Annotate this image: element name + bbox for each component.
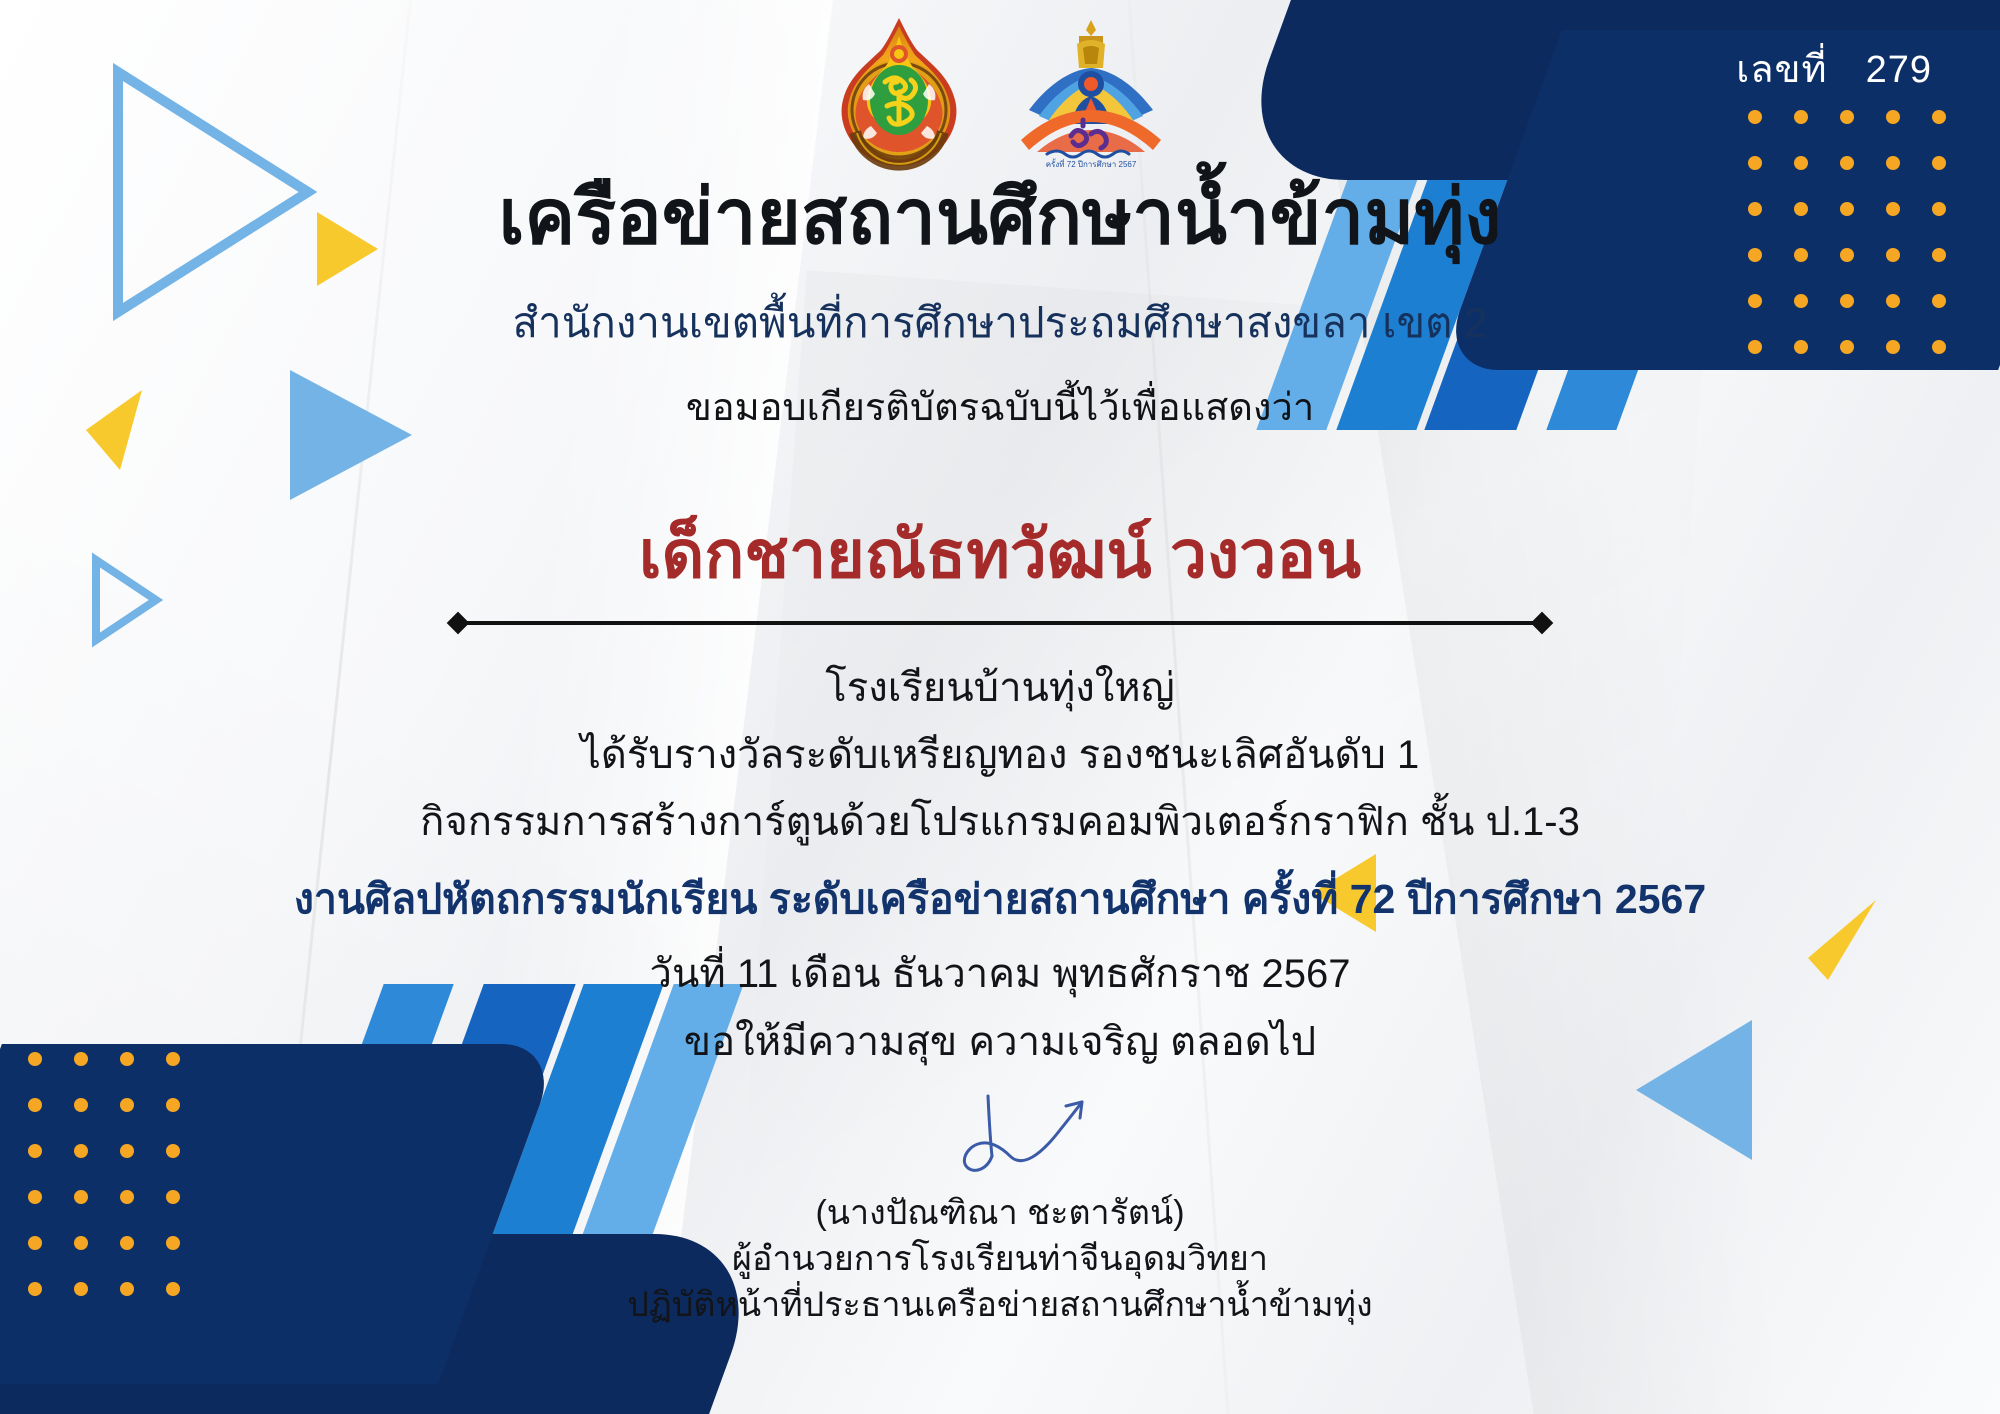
event-line: งานศิลปหัตถกรรมนักเรียน ระดับเครือข่ายสถ… xyxy=(0,865,2000,934)
certificate-page: เลขที่ 279 xyxy=(0,0,2000,1414)
obec-emblem-logo xyxy=(825,14,973,174)
logo-caption: ครั้งที่ 72 ปีการศึกษา 2567 xyxy=(1046,158,1137,169)
org-subtitle: สำนักงานเขตพื้นที่การศึกษาประถมศึกษาสงขล… xyxy=(0,300,2000,346)
silapa-hatthakam-logo: ครั้งที่ 72 ปีการศึกษา 2567 xyxy=(1007,14,1175,174)
certificate-number: เลขที่ 279 xyxy=(1736,38,1932,99)
body-line-award: ได้รับรางวัลระดับเหรียญทอง รองชนะเลิศอัน… xyxy=(0,722,2000,789)
logo-row: ครั้งที่ 72 ปีการศึกษา 2567 xyxy=(0,14,2000,174)
handwritten-signature xyxy=(870,1090,1130,1200)
certificate-body: โรงเรียนบ้านทุ่งใหญ่ ได้รับรางวัลระดับเห… xyxy=(0,655,2000,1076)
recipient-name: เด็กชายณัธทวัฒน์ วงวอน xyxy=(0,518,2000,591)
page-title: เครือข่ายสถานศึกษาน้ำข้ามทุ่ง xyxy=(0,178,2000,258)
body-line-activity: กิจกรรมการสร้างการ์ตูนด้วยโปรแกรมคอมพิวเ… xyxy=(0,789,2000,856)
presentation-line: ขอมอบเกียรติบัตรฉบับนี้ไว้เพื่อแสดงว่า xyxy=(0,388,2000,430)
date-line: วันที่ 11 เดือน ธันวาคม พุทธศักราช 2567 xyxy=(0,941,2000,1008)
signature-position-2: ปฏิบัติหน้าที่ประธานเครือข่ายสถานศึกษาน้… xyxy=(0,1283,2000,1329)
certificate-number-value: 279 xyxy=(1866,49,1932,92)
signature-name: (นางปัณฑิณา ชะตารัตน์) xyxy=(0,1191,2000,1237)
wish-line: ขอให้มีความสุข ความเจริญ ตลอดไป xyxy=(0,1009,2000,1076)
rule-bar xyxy=(464,621,1536,625)
signature-block: (นางปัณฑิณา ชะตารัตน์) ผู้อำนวยการโรงเรี… xyxy=(0,1090,2000,1329)
name-underline-rule xyxy=(450,618,1550,628)
signature-position-1: ผู้อำนวยการโรงเรียนท่าจีนอุดมวิทยา xyxy=(0,1237,2000,1283)
certificate-number-label: เลขที่ xyxy=(1736,38,1827,99)
body-line-school: โรงเรียนบ้านทุ่งใหญ่ xyxy=(0,655,2000,722)
